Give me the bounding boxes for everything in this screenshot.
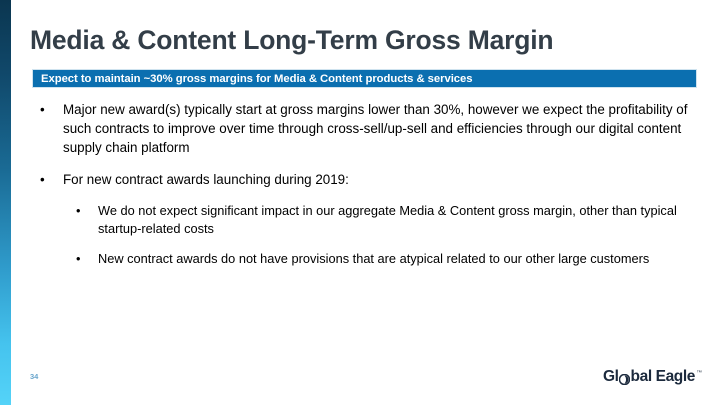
logo-text-before: Gl	[603, 368, 619, 386]
bullet-text: Major new award(s) typically start at gr…	[63, 102, 687, 155]
logo-text: Gl bal Eagle	[603, 368, 695, 386]
bullet-text: For new contract awards launching during…	[63, 172, 349, 187]
body-content: • Major new award(s) typically start at …	[0, 100, 720, 281]
eagle-eye-mark-icon	[619, 372, 630, 383]
company-logo: Gl bal Eagle ™	[603, 368, 702, 386]
page-number: 34	[30, 372, 38, 381]
trademark-symbol: ™	[697, 370, 703, 376]
bullet-marker-icon: •	[40, 170, 45, 189]
sub-bullet-item: • New contract awards do not have provis…	[0, 250, 720, 268]
bullet-marker-icon: •	[40, 100, 45, 119]
bullet-item: • For new contract awards launching duri…	[0, 170, 720, 189]
bullet-marker-icon: •	[76, 250, 80, 268]
bullet-item: • Major new award(s) typically start at …	[0, 100, 720, 157]
bullet-marker-icon: •	[76, 202, 80, 220]
logo-text-after: bal Eagle	[631, 368, 695, 386]
sub-bullet-text: We do not expect significant impact in o…	[98, 203, 677, 236]
highlight-banner: Expect to maintain ~30% gross margins fo…	[32, 69, 697, 88]
slide: Media & Content Long-Term Gross Margin E…	[0, 0, 720, 405]
sub-bullet-text: New contract awards do not have provisio…	[98, 251, 649, 266]
highlight-banner-text: Expect to maintain ~30% gross margins fo…	[33, 73, 473, 85]
sub-bullet-item: • We do not expect significant impact in…	[0, 202, 720, 238]
page-title: Media & Content Long-Term Gross Margin	[30, 26, 690, 55]
sub-bullet-group: • We do not expect significant impact in…	[0, 202, 720, 268]
